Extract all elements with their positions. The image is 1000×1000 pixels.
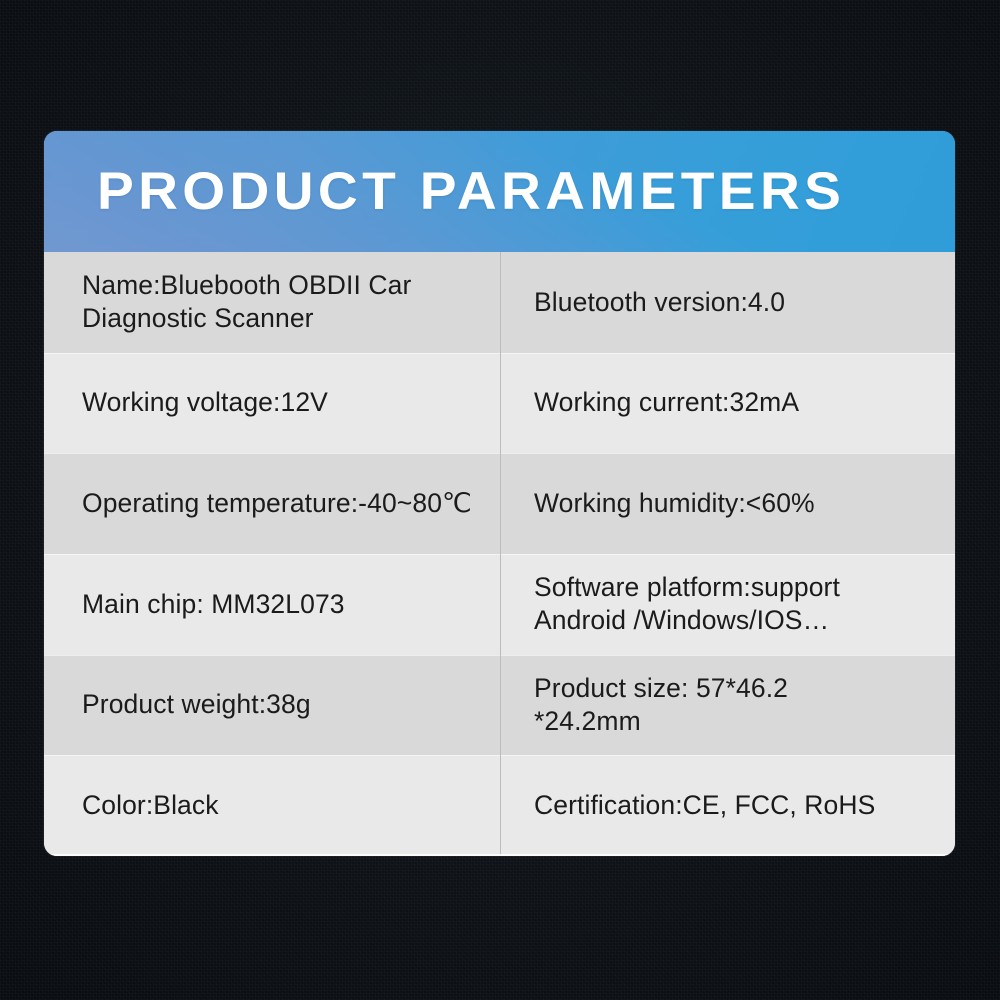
spec-row: Color:BlackCertification:CE, FCC, RoHS — [44, 755, 955, 856]
spec-cell-right: Working current:32mA — [500, 353, 955, 454]
spec-text-right: Working humidity:<60% — [534, 487, 815, 520]
spec-text-left: Name:Bluebooth OBDII Car Diagnostic Scan… — [82, 269, 411, 336]
spec-row: Working voltage:12VWorking current:32mA — [44, 353, 955, 454]
spec-cell-right: Certification:CE, FCC, RoHS — [500, 755, 955, 856]
spec-row: Product weight:38gProduct size: 57*46.2 … — [44, 655, 955, 756]
spec-cell-left: Name:Bluebooth OBDII Car Diagnostic Scan… — [44, 252, 500, 353]
spec-text-left: Main chip: MM32L073 — [82, 588, 345, 621]
spec-text-right: Product size: 57*46.2 *24.2mm — [534, 672, 788, 739]
spec-text-left: Working voltage:12V — [82, 386, 328, 419]
product-parameters-card: PRODUCT PARAMETERS Name:Bluebooth OBDII … — [44, 131, 955, 856]
column-divider — [500, 453, 501, 554]
specification-table: Name:Bluebooth OBDII Car Diagnostic Scan… — [44, 252, 955, 856]
spec-text-left: Product weight:38g — [82, 688, 311, 721]
spec-cell-right: Software platform:support Android /Windo… — [500, 554, 955, 655]
spec-text-right: Certification:CE, FCC, RoHS — [534, 789, 875, 822]
spec-row: Name:Bluebooth OBDII Car Diagnostic Scan… — [44, 252, 955, 353]
spec-text-right: Working current:32mA — [534, 386, 799, 419]
spec-cell-right: Product size: 57*46.2 *24.2mm — [500, 655, 955, 756]
spec-cell-left: Working voltage:12V — [44, 353, 500, 454]
spec-cell-left: Operating temperature:-40~80℃ — [44, 453, 500, 554]
column-divider — [500, 554, 501, 655]
page-title: PRODUCT PARAMETERS — [97, 165, 845, 218]
spec-text-left: Color:Black — [82, 789, 219, 822]
spec-text-right: Bluetooth version:4.0 — [534, 286, 785, 319]
column-divider — [500, 755, 501, 856]
column-divider — [500, 252, 501, 353]
spec-cell-right: Working humidity:<60% — [500, 453, 955, 554]
spec-cell-left: Main chip: MM32L073 — [44, 554, 500, 655]
spec-row: Main chip: MM32L073Software platform:sup… — [44, 554, 955, 655]
spec-cell-left: Color:Black — [44, 755, 500, 856]
spec-row: Operating temperature:-40~80℃Working hum… — [44, 453, 955, 554]
card-header: PRODUCT PARAMETERS — [44, 131, 955, 252]
column-divider — [500, 353, 501, 454]
column-divider — [500, 655, 501, 756]
spec-cell-right: Bluetooth version:4.0 — [500, 252, 955, 353]
spec-text-right: Software platform:support Android /Windo… — [534, 571, 840, 638]
card-bottom-edge — [44, 854, 955, 856]
spec-text-left: Operating temperature:-40~80℃ — [82, 487, 472, 520]
spec-cell-left: Product weight:38g — [44, 655, 500, 756]
